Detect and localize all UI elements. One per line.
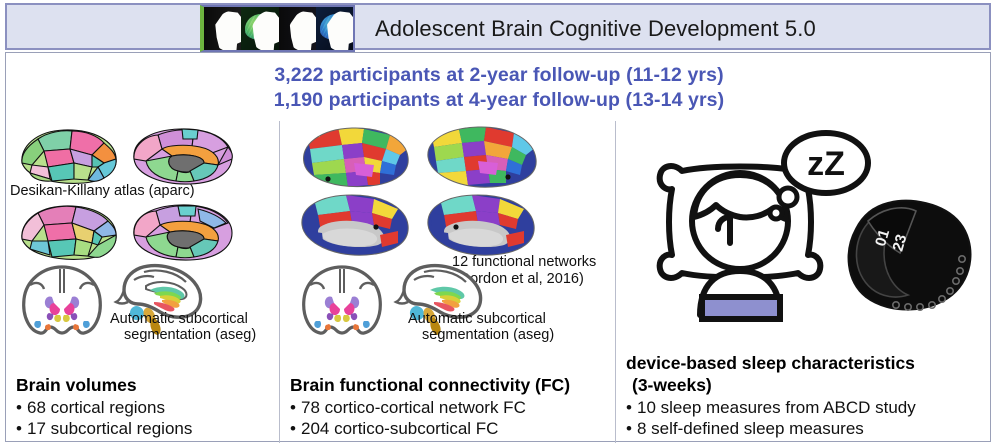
aseg-caption-line-1: Automatic subcortical <box>110 311 248 328</box>
column-title: Brain functional connectivity (FC) <box>290 375 570 396</box>
column-functional-connectivity: 12 functional networks (Gordon et al, 20… <box>279 121 616 443</box>
list-item-label: 78 cortico-cortical network FC <box>301 398 526 417</box>
logo-panel-head-1 <box>204 7 241 50</box>
figure-header: Adolescent Brain Cognitive Development 5… <box>5 3 991 50</box>
blanket <box>702 297 780 319</box>
desikan-killiany-surface-lateral-2 <box>14 201 124 263</box>
functional-connectivity-footer: Brain functional connectivity (FC) •78 c… <box>290 375 570 439</box>
aseg-caption-line-2: segmentation (aseg) <box>124 327 256 344</box>
list-item-label: 10 sleep measures from ABCD study <box>637 398 916 417</box>
list-item: •17 subcortical regions <box>16 418 192 439</box>
figure-title: Adolescent Brain Cognitive Development 5… <box>375 5 816 52</box>
gordon-network-surface-medial-1 <box>294 191 414 261</box>
desikan-killiany-surface-lateral-1 <box>14 125 124 187</box>
abcd-study-overview-figure: Adolescent Brain Cognitive Development 5… <box>0 0 1000 446</box>
gordon-network-surface-lateral-1 <box>294 123 414 193</box>
sleep-illustration: zZ 01 23 <box>630 125 990 333</box>
aseg-caption-line-1: Automatic subcortical <box>408 311 546 328</box>
aseg-caption-line-2: segmentation (aseg) <box>422 327 554 344</box>
participant-stats: 3,222 participants at 2-year follow-up (… <box>6 63 992 113</box>
desikan-killiany-surface-medial-2 <box>128 201 238 263</box>
gordon-network-surface-medial-2 <box>422 191 542 261</box>
aseg-coronal-slice <box>16 263 108 339</box>
column-title: Brain volumes <box>16 375 192 396</box>
list-item: •204 cortico-subcortical FC <box>290 418 570 439</box>
atlas-caption: Desikan-Killany atlas (aparc) <box>10 183 195 200</box>
logo-panel-brain-green <box>241 7 278 50</box>
stats-line-2: 1,190 participants at 4-year follow-up (… <box>6 88 992 113</box>
list-item-label: 68 cortical regions <box>27 398 165 417</box>
figure-body: 3,222 participants at 2-year follow-up (… <box>5 52 991 442</box>
column-title-line-2: (3-weeks) <box>632 375 916 396</box>
sleep-footer: device-based sleep characteristics (3-we… <box>626 353 916 439</box>
column-brain-volumes: Desikan-Killany atlas (aparc) <box>6 121 279 443</box>
sleep-bubble-text: zZ <box>807 145 845 183</box>
abcd-logo <box>200 5 355 52</box>
list-item: •78 cortico-cortical network FC <box>290 397 570 418</box>
head-silhouette-icon <box>213 11 241 50</box>
list-item: •68 cortical regions <box>16 397 192 418</box>
column-title-line-1: device-based sleep characteristics <box>626 353 916 374</box>
gordon-network-surface-lateral-2 <box>422 123 542 193</box>
aseg-coronal-slice <box>296 263 388 339</box>
column-sleep: zZ 01 23 <box>616 121 990 443</box>
sleep-bubble-icon: zZ <box>770 133 868 219</box>
logo-panel-brain-blue <box>316 7 353 50</box>
head-silhouette-icon <box>288 11 316 50</box>
logo-panel-head-2 <box>279 7 316 50</box>
list-item-label: 204 cortico-subcortical FC <box>301 419 498 438</box>
columns-container: Desikan-Killany atlas (aparc) <box>6 121 992 443</box>
list-item: •10 sleep measures from ABCD study <box>626 397 916 418</box>
list-item-label: 17 subcortical regions <box>27 419 192 438</box>
brain-volumes-footer: Brain volumes •68 cortical regions •17 s… <box>16 375 192 439</box>
desikan-killiany-surface-medial-1 <box>128 125 238 187</box>
stats-line-1: 3,222 participants at 2-year follow-up (… <box>6 63 992 88</box>
list-item-label: 8 self-defined sleep measures <box>637 419 864 438</box>
list-item: •8 self-defined sleep measures <box>626 418 916 439</box>
fitness-tracker-icon: 01 23 <box>849 201 971 310</box>
